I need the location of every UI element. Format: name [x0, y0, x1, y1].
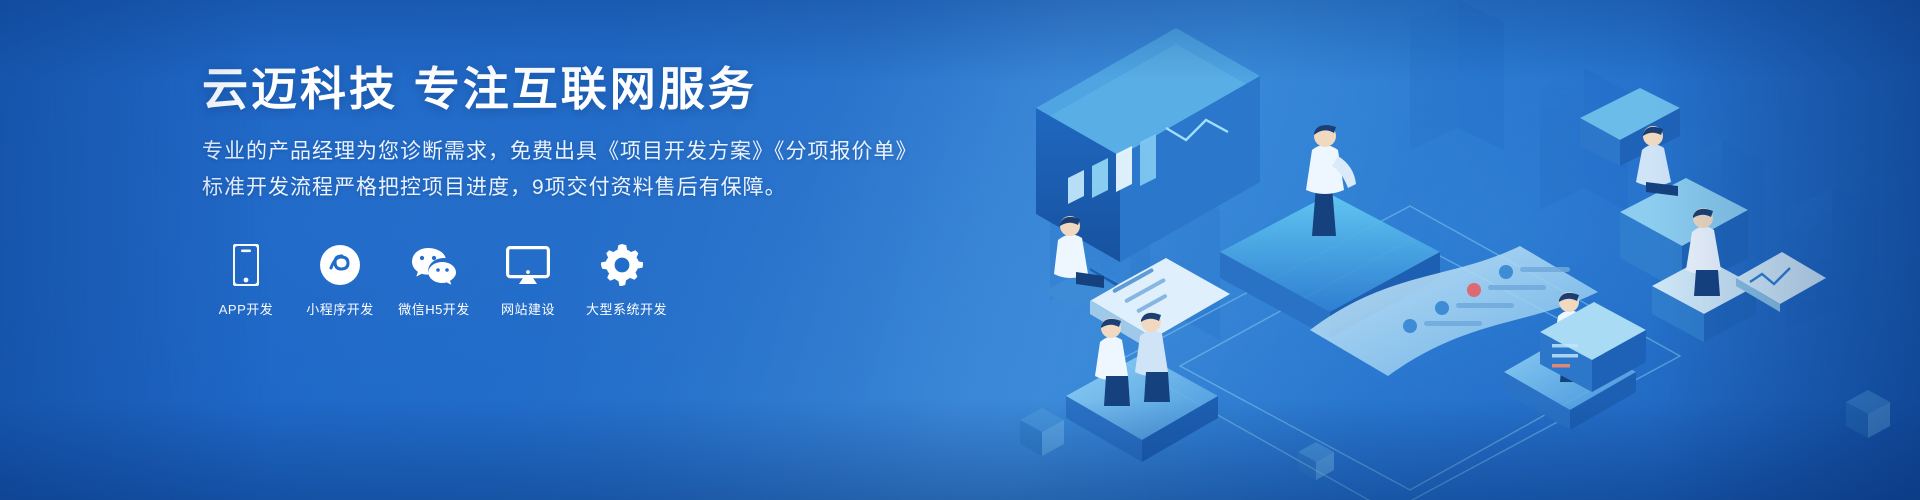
service-list: APP开发 小程序开发 — [202, 240, 962, 318]
mobile-phone-icon — [210, 240, 282, 286]
service-label-wechat-h5: 微信H5开发 — [398, 299, 470, 318]
service-item-large-system[interactable]: 大型系统开发 — [586, 240, 658, 318]
subtitle-line-2: 标准开发流程严格把控项目进度，9项交付资料售后有保障。 — [202, 170, 962, 206]
service-label-large-system: 大型系统开发 — [586, 299, 658, 318]
subtitle-line-1: 专业的产品经理为您诊断需求，免费出具《项目开发方案》《分项报价单》 — [202, 134, 962, 170]
service-item-website[interactable]: 网站建设 — [492, 240, 564, 318]
monitor-icon — [492, 240, 564, 286]
isometric-team-dashboard-illustration — [980, 0, 1920, 500]
service-label-website: 网站建设 — [492, 299, 564, 318]
service-item-mini-program[interactable]: 小程序开发 — [304, 240, 376, 318]
wechat-icon — [398, 240, 470, 286]
service-item-wechat-h5[interactable]: 微信H5开发 — [398, 240, 470, 318]
service-label-mini-program: 小程序开发 — [304, 299, 376, 318]
mini-program-icon — [304, 240, 376, 286]
page-title: 云迈科技 专注互联网服务 — [202, 62, 962, 116]
gear-icon — [586, 240, 658, 286]
service-label-app: APP开发 — [210, 299, 282, 318]
service-item-app[interactable]: APP开发 — [210, 240, 282, 318]
hero-banner: 云迈科技 专注互联网服务 专业的产品经理为您诊断需求，免费出具《项目开发方案》《… — [0, 0, 1920, 500]
hero-content: 云迈科技 专注互联网服务 专业的产品经理为您诊断需求，免费出具《项目开发方案》《… — [202, 62, 962, 318]
